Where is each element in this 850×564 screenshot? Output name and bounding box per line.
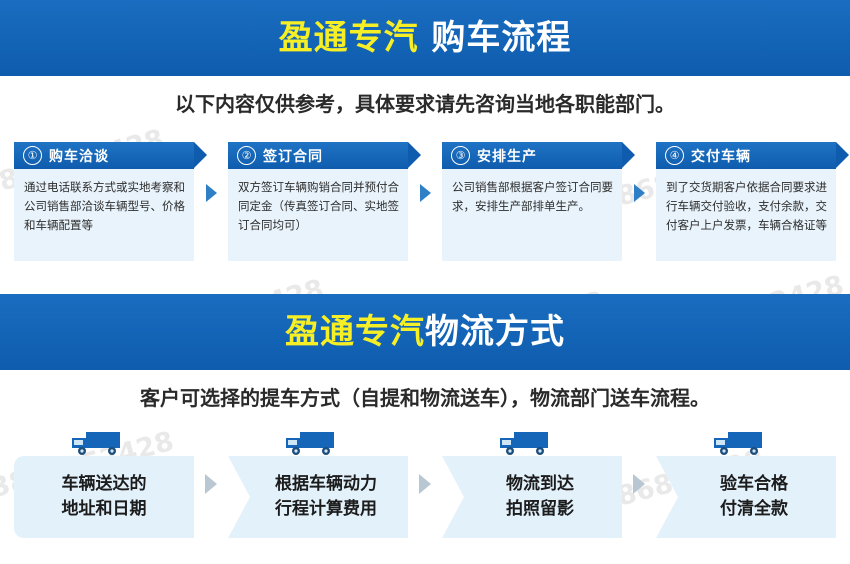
step-number-icon: ① — [23, 146, 42, 165]
step-body: 到了交货期客户依据合同要求进行车辆交付验收，支付余款，交付客户上户发票，车辆合格… — [656, 169, 836, 261]
logistics-line2: 行程计算费用 — [275, 497, 377, 523]
logistics-card: 车辆送达的 地址和日期 — [14, 430, 194, 538]
arrow-right-icon — [633, 474, 645, 494]
section1-title: 盈通专汽 购车流程 — [279, 21, 572, 55]
truck-slot — [228, 430, 408, 456]
arrow-right-icon — [205, 474, 217, 494]
logistics-text: 车辆送达的 地址和日期 — [62, 472, 147, 523]
logistics-card: 物流到达 拍照留影 — [442, 430, 622, 538]
arrow-right-icon — [420, 184, 431, 202]
section2-title: 盈通专汽物流方式 — [285, 315, 565, 349]
purchase-steps: ① 购车洽谈 通过电话联系方式或实地考察和公司销售部洽谈车辆型号、价格和车辆配置… — [14, 142, 836, 261]
step-card: ② 签订合同 双方签订车辆购销合同并预付合同定金（传真签订合同、实地签订合同均可… — [228, 142, 408, 261]
logistics-line1: 物流到达 — [506, 472, 574, 498]
logistics-separator — [622, 430, 656, 538]
arrow-right-icon — [206, 184, 217, 202]
step-number-icon: ④ — [665, 146, 684, 165]
logistics-line2: 地址和日期 — [62, 497, 147, 523]
truck-slot — [14, 430, 194, 456]
logistics-text: 根据车辆动力 行程计算费用 — [259, 472, 377, 523]
step-body: 双方签订车辆购销合同并预付合同定金（传真签订合同、实地签订合同均可） — [228, 169, 408, 261]
logistics-body: 物流到达 拍照留影 — [442, 456, 622, 538]
section2-title-brand: 盈通专汽 — [285, 312, 425, 352]
truck-icon — [284, 430, 344, 456]
step-title: 购车洽谈 — [49, 146, 109, 166]
section1-title-rest: 购车流程 — [419, 18, 572, 58]
step-header: ② 签订合同 — [228, 142, 408, 169]
step-header: ③ 安排生产 — [442, 142, 622, 169]
logistics-card: 根据车辆动力 行程计算费用 — [228, 430, 408, 538]
arrow-right-icon — [419, 474, 431, 494]
step-number-icon: ③ — [451, 146, 470, 165]
section2-banner: 盈通专汽物流方式 — [0, 294, 850, 370]
step-title: 签订合同 — [263, 146, 323, 166]
logistics-text: 物流到达 拍照留影 — [490, 472, 574, 523]
section2-title-rest: 物流方式 — [425, 312, 565, 352]
section1-title-brand: 盈通专汽 — [279, 18, 419, 58]
step-number-icon: ② — [237, 146, 256, 165]
logistics-card: 验车合格 付清全款 — [656, 430, 836, 538]
logistics-line2: 拍照留影 — [506, 497, 574, 523]
section2-subtitle: 客户可选择的提车方式（自提和物流送车），物流部门送车流程。 — [0, 382, 850, 411]
logistics-body: 验车合格 付清全款 — [656, 456, 836, 538]
step-card: ③ 安排生产 公司销售部根据客户签订合同要求，安排生产部排单生产。 — [442, 142, 622, 261]
truck-icon — [70, 430, 130, 456]
logistics-line1: 车辆送达的 — [62, 472, 147, 498]
section1-subtitle: 以下内容仅供参考，具体要求请先咨询当地各职能部门。 — [0, 88, 850, 117]
step-body: 通过电话联系方式或实地考察和公司销售部洽谈车辆型号、价格和车辆配置等 — [14, 169, 194, 261]
step-title: 交付车辆 — [691, 146, 751, 166]
arrow-right-icon — [634, 184, 645, 202]
logistics-line1: 验车合格 — [720, 472, 788, 498]
logistics-separator — [408, 430, 442, 538]
truck-slot — [442, 430, 622, 456]
logistics-body: 根据车辆动力 行程计算费用 — [228, 456, 408, 538]
step-body: 公司销售部根据客户签订合同要求，安排生产部排单生产。 — [442, 169, 622, 261]
truck-slot — [656, 430, 836, 456]
logistics-line2: 付清全款 — [720, 497, 788, 523]
truck-icon — [712, 430, 772, 456]
truck-icon — [498, 430, 558, 456]
step-header: ① 购车洽谈 — [14, 142, 194, 169]
step-card: ④ 交付车辆 到了交货期客户依据合同要求进行车辆交付验收，支付余款，交付客户上户… — [656, 142, 836, 261]
logistics-line1: 根据车辆动力 — [275, 472, 377, 498]
logistics-steps: 车辆送达的 地址和日期 根据车辆动力 — [14, 430, 836, 538]
section1-banner: 盈通专汽 购车流程 — [0, 0, 850, 76]
step-header: ④ 交付车辆 — [656, 142, 836, 169]
step-card: ① 购车洽谈 通过电话联系方式或实地考察和公司销售部洽谈车辆型号、价格和车辆配置… — [14, 142, 194, 261]
logistics-text: 验车合格 付清全款 — [704, 472, 788, 523]
logistics-separator — [194, 430, 228, 538]
step-title: 安排生产 — [477, 146, 537, 166]
page-root: 盈通专汽 购车流程 以下内容仅供参考，具体要求请先咨询当地各职能部门。 ① 购车… — [0, 0, 850, 564]
logistics-body: 车辆送达的 地址和日期 — [14, 456, 194, 538]
